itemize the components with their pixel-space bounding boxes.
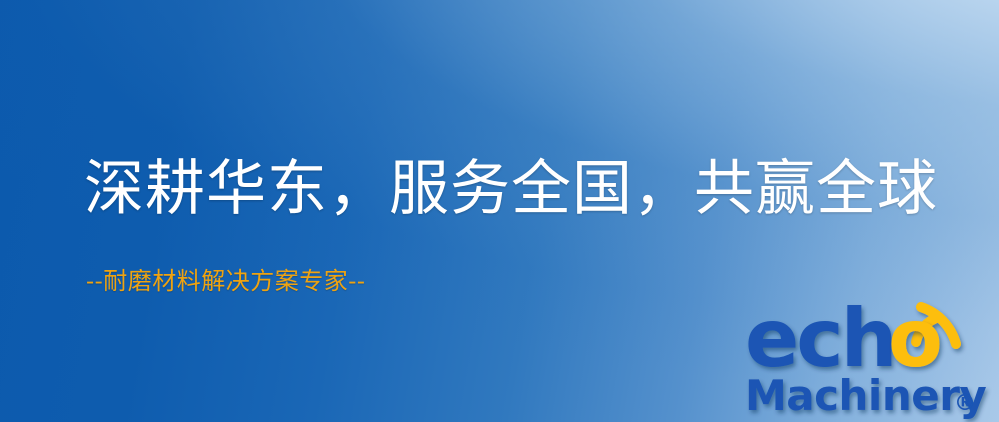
page-subtitle: --耐磨材料解决方案专家--	[86, 266, 365, 296]
page-title: 深耕华东，服务全国，共赢全球	[84, 154, 938, 224]
echo-machinery-logo[interactable]: ech o Machinery ®	[745, 292, 995, 422]
hero-banner: 深耕华东，服务全国，共赢全球 --耐磨材料解决方案专家-- ech o	[0, 0, 999, 422]
logo-registered-mark: ®	[954, 391, 976, 416]
logo-tagline: Machinery	[745, 371, 986, 420]
